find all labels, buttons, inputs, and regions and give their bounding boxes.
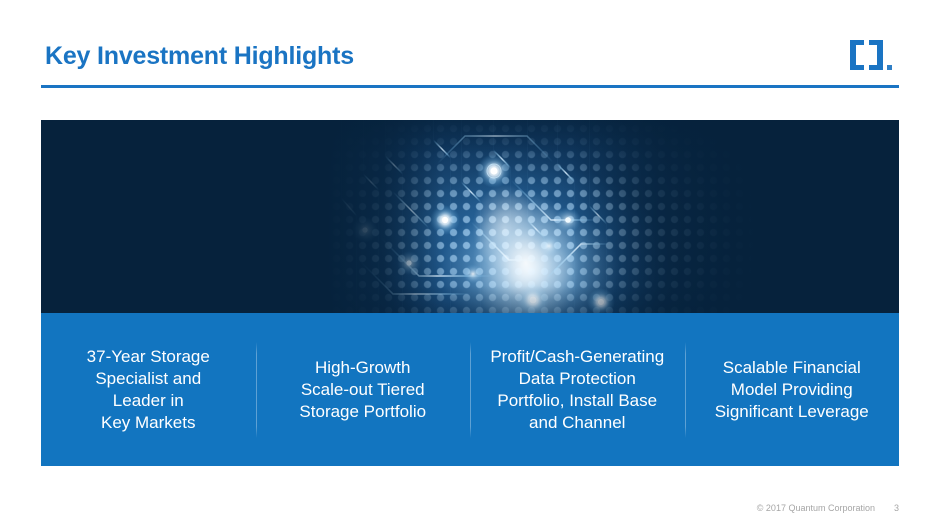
highlight-column-2: High-Growth Scale-out Tiered Storage Por…	[256, 313, 471, 466]
copyright-text: © 2017 Quantum Corporation	[757, 503, 875, 513]
circuit-trace-layer	[41, 120, 899, 313]
banner-image	[41, 120, 899, 313]
quantum-bracket-logo	[847, 38, 899, 72]
highlight-column-3: Profit/Cash-Generating Data Protection P…	[470, 313, 685, 466]
highlights-bar: 37-Year Storage Specialist and Leader in…	[41, 313, 899, 466]
highlight-column-4: Scalable Financial Model Providing Signi…	[685, 313, 900, 466]
highlight-text-4: Scalable Financial Model Providing Signi…	[715, 357, 869, 423]
page-number: 3	[891, 503, 899, 513]
slide-footer: © 2017 Quantum Corporation 3	[757, 503, 899, 513]
highlight-text-1: 37-Year Storage Specialist and Leader in…	[87, 346, 210, 434]
highlight-text-2: High-Growth Scale-out Tiered Storage Por…	[299, 357, 426, 423]
title-divider	[41, 85, 899, 88]
highlight-column-1: 37-Year Storage Specialist and Leader in…	[41, 313, 256, 466]
page-title: Key Investment Highlights	[45, 42, 354, 71]
highlight-text-3: Profit/Cash-Generating Data Protection P…	[490, 346, 664, 434]
